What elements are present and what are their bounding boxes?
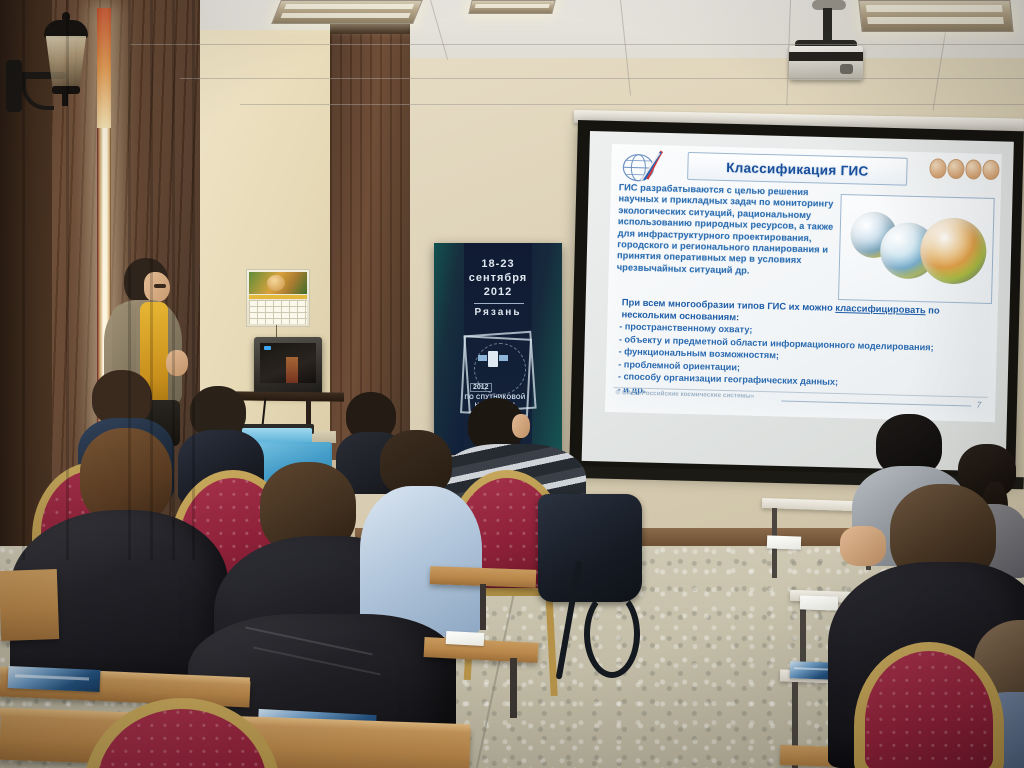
wood-fold <box>150 0 153 560</box>
desk-leg <box>480 584 486 630</box>
power-led-icon <box>264 346 271 350</box>
handout-paper <box>767 535 801 549</box>
chair-right-front[interactable] <box>854 642 1004 768</box>
wall-calendar <box>246 269 310 327</box>
slide-globe-icon-row <box>929 158 999 180</box>
slide-title: Классификация ГИС <box>726 159 869 178</box>
desk-leg <box>510 658 517 718</box>
calendar-band <box>249 295 307 299</box>
ceiling-light-fixture <box>858 0 1013 32</box>
lantern-wall-plate <box>6 60 22 112</box>
slide-title-box: Классификация ГИС <box>687 152 908 186</box>
wood-fold <box>66 0 69 560</box>
marble-large <box>919 217 987 285</box>
projector-vent-strip <box>789 52 863 61</box>
handout-paper <box>800 595 838 610</box>
handout-paper <box>446 631 485 646</box>
attendee-face <box>512 414 530 438</box>
slide-page-number: 7 <box>976 400 981 410</box>
window-light-slit-warm <box>97 8 111 128</box>
banner-date-year: 2012 <box>434 285 562 299</box>
ceiling-light-fixture <box>271 0 423 24</box>
monitor-screen-glow <box>286 357 298 383</box>
wood-fold <box>22 0 25 560</box>
ceiling-light-fixture <box>468 0 555 14</box>
banner-date-month: сентября <box>434 271 562 285</box>
bag-strap-loop <box>584 590 640 678</box>
globe-dot-icon <box>929 158 946 178</box>
lecture-hall-photo: Классификация ГИС ГИС разрабатываются с … <box>0 0 1024 768</box>
satellite-icon <box>488 351 498 367</box>
attendee-blue-shirt-top <box>360 486 482 636</box>
globe-dot-icon <box>965 159 982 179</box>
projected-slide: Классификация ГИС ГИС разрабатываются с … <box>605 144 1002 422</box>
banner-date-day: 18-23 <box>434 257 562 271</box>
ceiling-grid-line <box>130 44 1024 45</box>
crt-monitor[interactable] <box>254 337 322 395</box>
ceiling-grid-line <box>180 78 1024 79</box>
calendar-date-grid <box>249 300 307 324</box>
globe-rocket-logo <box>617 148 676 184</box>
slide-paragraph: ГИС разрабатываются с целью решения науч… <box>617 182 839 279</box>
banner-divider <box>474 303 524 304</box>
projector-pole <box>823 8 832 42</box>
ceiling-grid-line <box>240 104 1024 105</box>
desk-left-far <box>0 569 59 641</box>
wood-fold <box>192 0 195 560</box>
hanging-bag <box>538 494 642 602</box>
wood-fold <box>172 0 175 560</box>
globe-dot-icon <box>982 160 999 180</box>
banner-city: Рязань <box>434 307 562 318</box>
projector-lens <box>840 64 853 74</box>
calendar-picture <box>249 272 307 294</box>
slide-lead-link: классифицировать <box>835 302 926 315</box>
banner-dates: 18-23 сентября 2012 <box>434 257 562 299</box>
emblem-year: 2012 <box>470 383 492 392</box>
wood-fold <box>128 0 131 560</box>
conference-booklet <box>8 666 101 692</box>
chair-foreground[interactable] <box>84 698 280 768</box>
presenter-moustache <box>154 284 166 288</box>
globe-dot-icon <box>947 159 964 179</box>
slide-globe-marbles-image <box>838 194 995 304</box>
